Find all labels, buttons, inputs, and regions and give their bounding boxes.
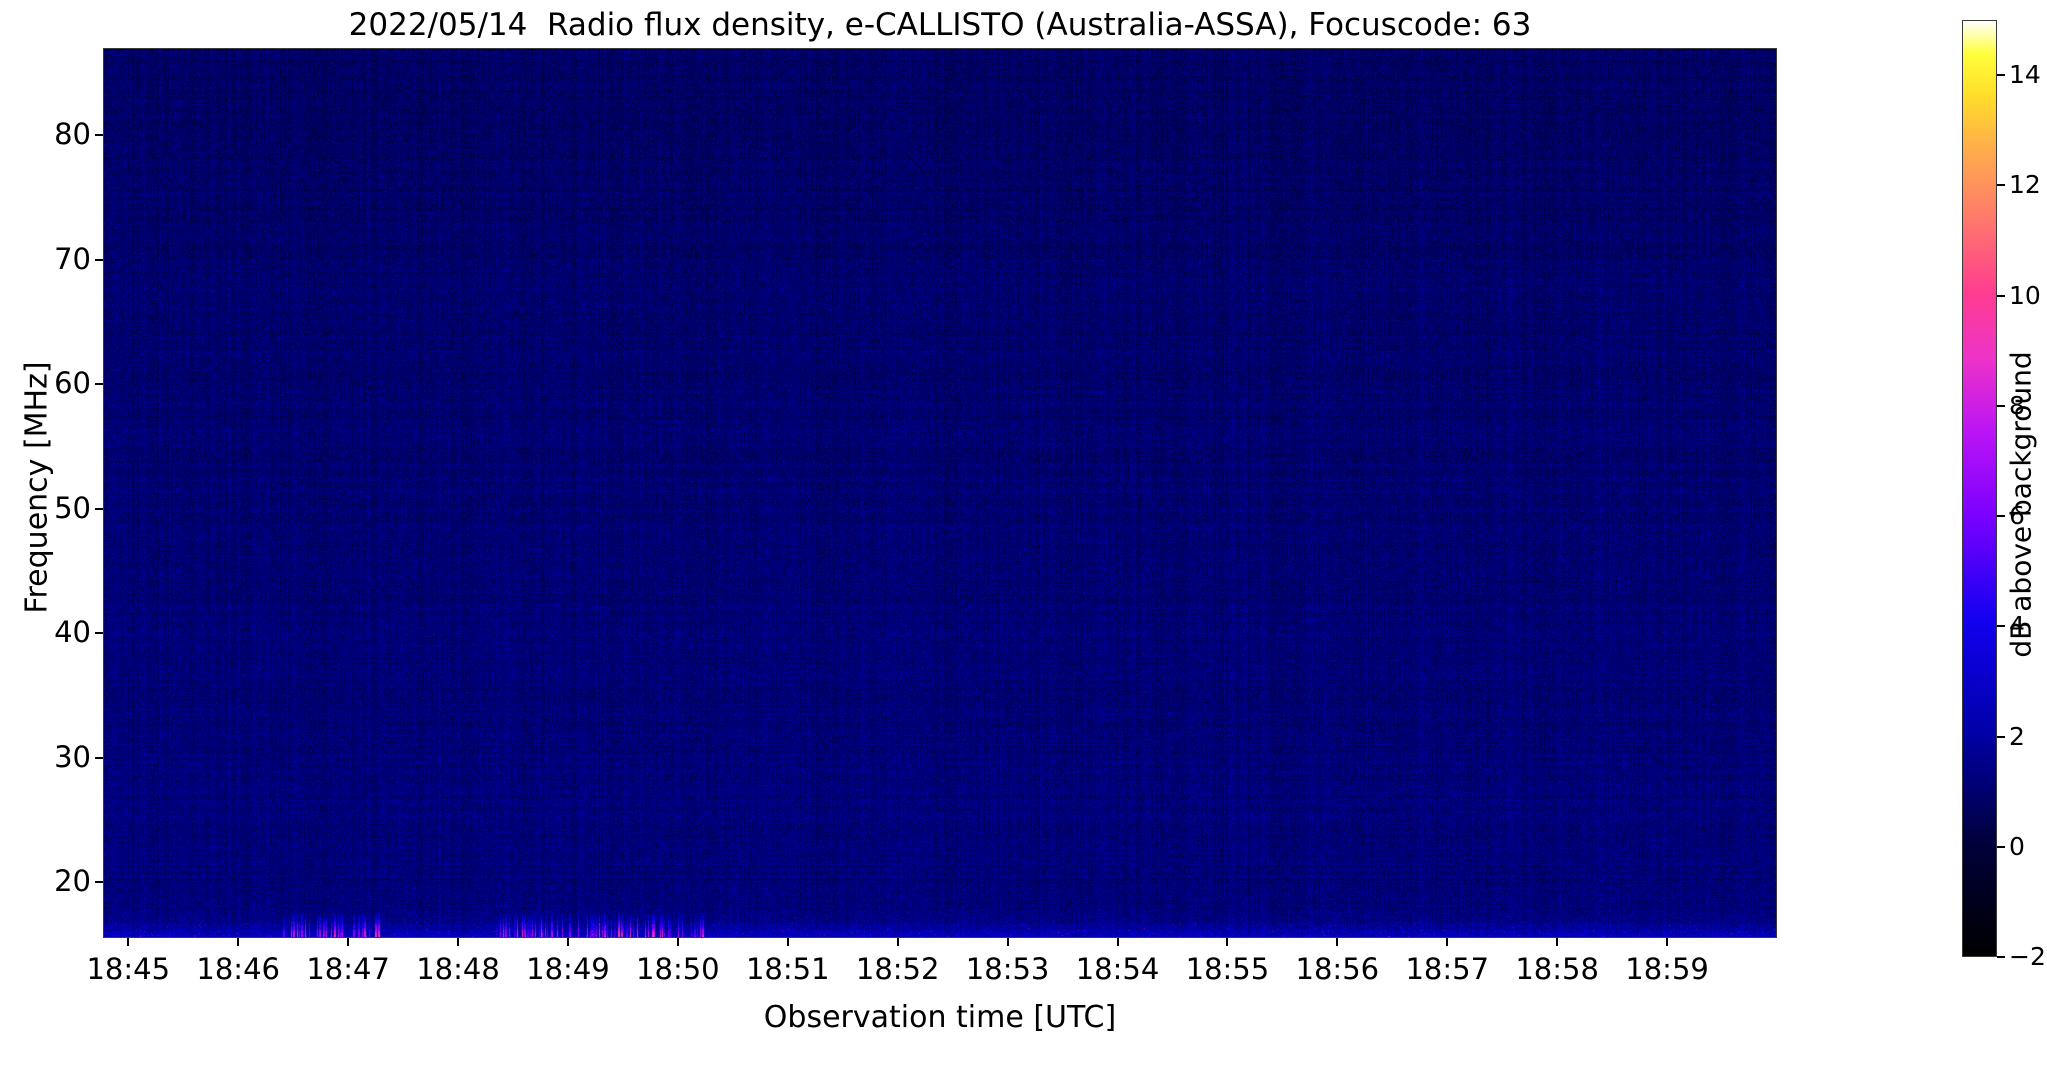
colorbar-tick-mark <box>1997 74 2005 76</box>
colorbar-tick-mark <box>1997 184 2005 186</box>
colorbar-tick-label: 2 <box>2009 724 2047 749</box>
x-tick-mark <box>237 938 239 946</box>
y-tick-mark <box>95 134 103 136</box>
page-title: 2022/05/14 Radio flux density, e-CALLIST… <box>0 6 1880 44</box>
x-tick-mark <box>1007 938 1009 946</box>
y-tick-label: 20 <box>31 867 91 896</box>
x-axis-label: Observation time [UTC] <box>103 1000 1777 1035</box>
spectrogram-axes <box>103 48 1777 938</box>
y-tick-label: 30 <box>31 743 91 772</box>
x-tick-mark <box>1446 938 1448 946</box>
x-tick-mark <box>567 938 569 946</box>
colorbar-label: dB above background <box>2005 335 2038 675</box>
colorbar-tick-label: 12 <box>2009 172 2047 197</box>
y-tick-mark <box>95 757 103 759</box>
x-tick-mark <box>347 938 349 946</box>
y-tick-mark <box>95 259 103 261</box>
spectrogram-image <box>104 49 1776 937</box>
colorbar-tick-mark <box>1997 846 2005 848</box>
x-tick-mark <box>1666 938 1668 946</box>
x-tick-mark <box>127 938 129 946</box>
x-tick-mark <box>1336 938 1338 946</box>
x-tick-mark <box>1226 938 1228 946</box>
y-tick-mark <box>95 632 103 634</box>
colorbar-tick-label: 10 <box>2009 283 2047 308</box>
colorbar-tick-label: −2 <box>2009 944 2047 969</box>
colorbar-tick-mark <box>1997 736 2005 738</box>
x-tick-mark <box>897 938 899 946</box>
x-tick-mark <box>787 938 789 946</box>
y-tick-mark <box>95 508 103 510</box>
colorbar-gradient <box>1963 21 1996 956</box>
colorbar-tick-label: 0 <box>2009 834 2047 859</box>
x-tick-mark <box>1556 938 1558 946</box>
colorbar <box>1962 20 1997 957</box>
x-tick-label: 18:59 <box>1587 953 1747 985</box>
colorbar-tick-mark <box>1997 295 2005 297</box>
x-tick-mark <box>677 938 679 946</box>
y-tick-mark <box>95 383 103 385</box>
colorbar-tick-label: 14 <box>2009 62 2047 87</box>
colorbar-tick-mark <box>1997 956 2005 958</box>
y-tick-label: 80 <box>31 120 91 149</box>
y-tick-label: 70 <box>31 245 91 274</box>
y-axis-label: Frequency [MHz] <box>20 288 55 688</box>
x-tick-mark <box>1117 938 1119 946</box>
x-tick-mark <box>457 938 459 946</box>
y-tick-mark <box>95 881 103 883</box>
